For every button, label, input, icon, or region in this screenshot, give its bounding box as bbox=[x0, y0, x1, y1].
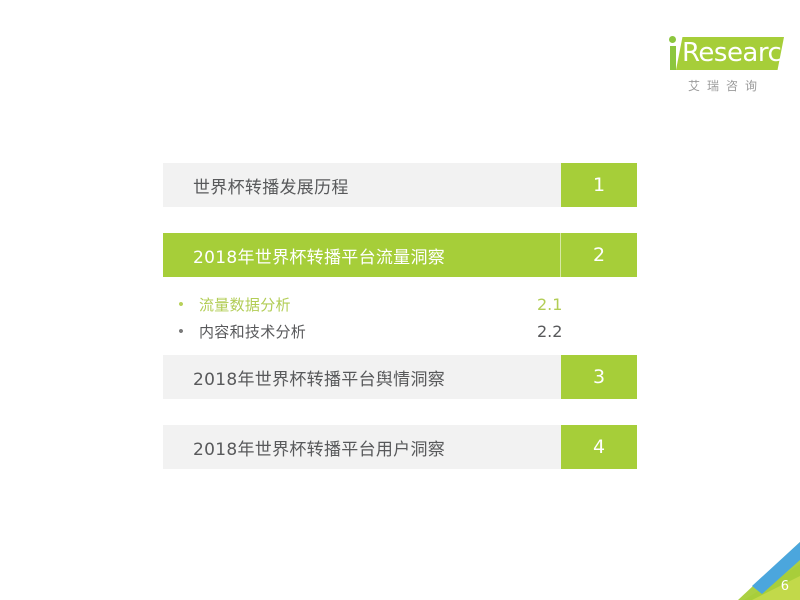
toc-spacer bbox=[163, 207, 637, 233]
toc-sub-item-2-1-number: 2.1 bbox=[537, 295, 637, 314]
toc-sub-item-2-1-label: 流量数据分析 bbox=[199, 294, 537, 315]
toc-row-4-number: 4 bbox=[561, 425, 637, 469]
logo-wordmark: Research bbox=[682, 39, 782, 69]
toc-row-2-number: 2 bbox=[560, 233, 637, 277]
toc-row-4-title: 2018年世界杯转播平台用户洞察 bbox=[163, 425, 561, 469]
toc-row-1-number: 1 bbox=[561, 163, 637, 207]
toc-row-3[interactable]: 2018年世界杯转播平台舆情洞察 3 bbox=[163, 355, 637, 399]
toc-sub-item-2-2-number: 2.2 bbox=[537, 322, 637, 341]
toc-spacer bbox=[163, 399, 637, 425]
logo-i-stem-icon bbox=[670, 46, 676, 70]
toc-row-3-number: 3 bbox=[561, 355, 637, 399]
bullet-icon: • bbox=[163, 297, 199, 312]
page-number: 6 bbox=[781, 579, 789, 594]
toc-row-3-title: 2018年世界杯转播平台舆情洞察 bbox=[163, 355, 561, 399]
toc-row-4[interactable]: 2018年世界杯转播平台用户洞察 4 bbox=[163, 425, 637, 469]
logo-mark: Research bbox=[660, 30, 785, 76]
table-of-contents: 世界杯转播发展历程 1 2018年世界杯转播平台流量洞察 2 • 流量数据分析 … bbox=[163, 163, 637, 469]
bullet-icon: • bbox=[163, 324, 199, 339]
toc-row-2[interactable]: 2018年世界杯转播平台流量洞察 2 bbox=[163, 233, 637, 277]
iresearch-logo: Research 艾瑞咨询 bbox=[660, 30, 785, 100]
logo-i-dot-icon bbox=[669, 36, 676, 43]
toc-sub-item-list: • 流量数据分析 2.1 • 内容和技术分析 2.2 bbox=[163, 277, 637, 355]
toc-sub-item-2-2-label: 内容和技术分析 bbox=[199, 321, 537, 342]
toc-row-2-title: 2018年世界杯转播平台流量洞察 bbox=[163, 233, 560, 277]
toc-sub-item-2-1[interactable]: • 流量数据分析 2.1 bbox=[163, 291, 637, 318]
toc-sub-item-2-2[interactable]: • 内容和技术分析 2.2 bbox=[163, 318, 637, 345]
corner-decoration: 6 bbox=[722, 542, 800, 600]
toc-row-1[interactable]: 世界杯转播发展历程 1 bbox=[163, 163, 637, 207]
logo-subtitle: 艾瑞咨询 bbox=[660, 77, 785, 94]
toc-row-1-title: 世界杯转播发展历程 bbox=[163, 163, 561, 207]
